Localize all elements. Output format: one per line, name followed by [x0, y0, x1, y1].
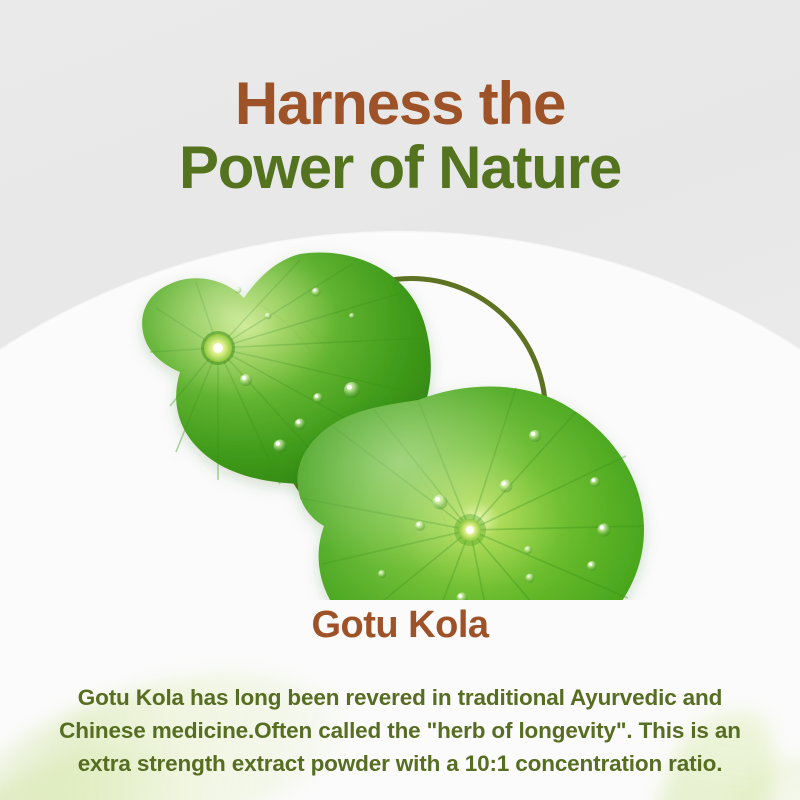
hero-image: [0, 230, 800, 600]
gotu-kola-leaves-illustration: [0, 230, 800, 600]
page-title: Harness the Power of Nature: [0, 73, 800, 197]
product-title: Gotu Kola: [0, 604, 800, 647]
promo-card: Harness the Power of Nature: [0, 0, 800, 800]
headline-line-2: Power of Nature: [0, 137, 800, 198]
product-description: Gotu Kola has long been revered in tradi…: [40, 681, 760, 780]
headline-line-1: Harness the: [0, 73, 800, 134]
